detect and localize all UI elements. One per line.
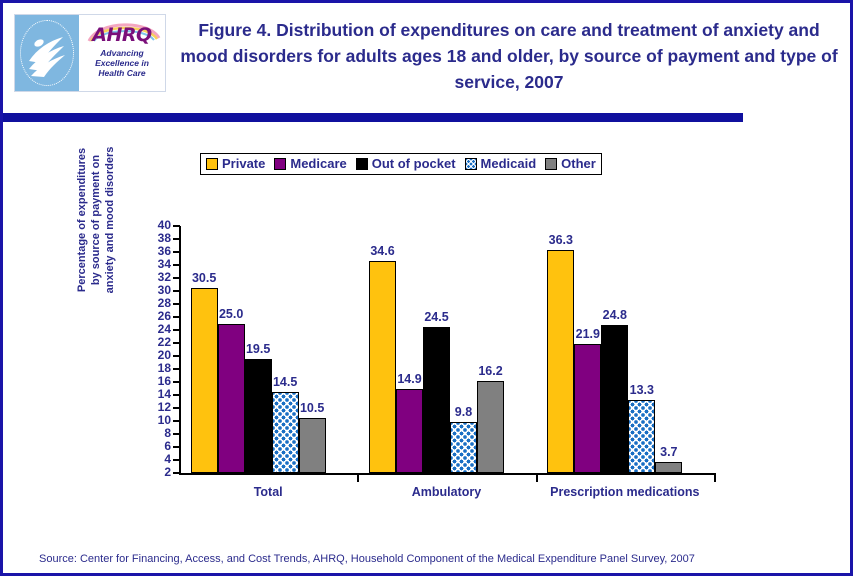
bar bbox=[628, 400, 655, 473]
x-axis-line bbox=[179, 473, 714, 475]
legend-item-other: Other bbox=[545, 156, 596, 171]
y-axis-tick bbox=[173, 264, 180, 266]
x-axis-group-separator bbox=[536, 473, 538, 482]
source-note: Source: Center for Financing, Access, an… bbox=[39, 553, 695, 565]
bar-value-label: 24.5 bbox=[415, 311, 459, 324]
y-axis-tick bbox=[173, 446, 180, 448]
legend-label: Out of pocket bbox=[372, 156, 456, 171]
bar-value-label: 30.5 bbox=[182, 272, 226, 285]
ahrq-tagline-line3: Health Care bbox=[79, 68, 165, 78]
x-axis-group-separator bbox=[357, 473, 359, 482]
bar bbox=[369, 261, 396, 473]
bar-value-label: 3.7 bbox=[647, 446, 691, 459]
ahrq-word-text: AHRQ bbox=[79, 26, 165, 45]
y-axis-tick bbox=[173, 407, 180, 409]
hhs-seal-icon bbox=[15, 15, 79, 91]
y-axis-tick-labels: 403836343230282624222018161412108642 bbox=[145, 189, 171, 519]
y-axis-tick bbox=[173, 433, 180, 435]
legend-swatch-icon bbox=[545, 158, 557, 170]
bar-value-label: 16.2 bbox=[469, 365, 513, 378]
y-axis-tick-label: 26 bbox=[147, 310, 171, 322]
bar bbox=[574, 344, 601, 473]
y-axis-tick-label: 14 bbox=[147, 388, 171, 400]
y-axis-tick bbox=[173, 368, 180, 370]
bar-value-label: 19.5 bbox=[236, 343, 280, 356]
y-axis-tick bbox=[173, 355, 180, 357]
y-axis-tick-label: 32 bbox=[147, 271, 171, 283]
y-axis-tick bbox=[173, 381, 180, 383]
y-axis-tick bbox=[173, 316, 180, 318]
y-axis-tick bbox=[173, 472, 180, 474]
y-axis-tick bbox=[173, 225, 180, 227]
y-axis-tick bbox=[173, 277, 180, 279]
ahrq-tagline-line1: Advancing bbox=[79, 48, 165, 58]
chart-area: 403836343230282624222018161412108642 30.… bbox=[3, 189, 850, 519]
legend-swatch-icon bbox=[356, 158, 368, 170]
ahrq-wordmark: AHRQ Advancing Excellence in Health Care bbox=[79, 15, 165, 91]
bar bbox=[450, 422, 477, 473]
bar bbox=[601, 325, 628, 473]
ahrq-tagline-line2: Excellence in bbox=[79, 58, 165, 68]
x-axis-group-label: Prescription medications bbox=[536, 485, 714, 499]
y-axis-tick-label: 20 bbox=[147, 349, 171, 361]
y-axis-tick-label: 2 bbox=[147, 466, 171, 478]
y-axis-tick-label: 12 bbox=[147, 401, 171, 413]
bar-value-label: 24.8 bbox=[593, 309, 637, 322]
ahrq-tagline: Advancing Excellence in Health Care bbox=[79, 48, 165, 78]
y-axis-tick bbox=[173, 238, 180, 240]
y-axis-tick-label: 6 bbox=[147, 440, 171, 452]
bar-value-label: 34.6 bbox=[361, 245, 405, 258]
legend-swatch-icon bbox=[274, 158, 286, 170]
ahrq-logo: AHRQ Advancing Excellence in Health Care bbox=[14, 14, 166, 92]
y-axis-tick-label: 36 bbox=[147, 245, 171, 257]
legend-swatch-icon bbox=[206, 158, 218, 170]
bar bbox=[655, 462, 682, 473]
legend-item-private: Private bbox=[206, 156, 265, 171]
figure-page: AHRQ Advancing Excellence in Health Care… bbox=[0, 0, 853, 576]
y-axis-tick-label: 40 bbox=[147, 219, 171, 231]
chart-legend: PrivateMedicareOut of pocketMedicaidOthe… bbox=[200, 153, 602, 175]
y-axis-tick-label: 24 bbox=[147, 323, 171, 335]
bar-value-label: 25.0 bbox=[209, 308, 253, 321]
bar bbox=[423, 327, 450, 473]
legend-item-out-of-pocket: Out of pocket bbox=[356, 156, 456, 171]
y-axis-tick bbox=[173, 459, 180, 461]
y-axis-tick-label: 30 bbox=[147, 284, 171, 296]
legend-label: Medicaid bbox=[481, 156, 537, 171]
y-axis-tick-label: 16 bbox=[147, 375, 171, 387]
bar-value-label: 36.3 bbox=[539, 234, 583, 247]
y-axis-tick-label: 4 bbox=[147, 453, 171, 465]
y-axis-tick bbox=[173, 329, 180, 331]
x-axis-group-separator bbox=[714, 473, 716, 482]
bar-value-label: 14.5 bbox=[263, 376, 307, 389]
x-axis-group-label: Total bbox=[179, 485, 357, 499]
legend-label: Medicare bbox=[290, 156, 346, 171]
legend-swatch-icon bbox=[465, 158, 477, 170]
y-axis-tick bbox=[173, 342, 180, 344]
x-axis-group-label: Ambulatory bbox=[357, 485, 535, 499]
figure-header: AHRQ Advancing Excellence in Health Care… bbox=[3, 3, 850, 107]
header-divider bbox=[3, 113, 743, 122]
y-axis-tick-label: 18 bbox=[147, 362, 171, 374]
bar bbox=[396, 389, 423, 473]
y-axis-tick-label: 8 bbox=[147, 427, 171, 439]
plot-bars: 30.525.019.514.510.534.614.924.59.816.23… bbox=[179, 226, 714, 473]
y-axis-tick bbox=[173, 303, 180, 305]
legend-item-medicare: Medicare bbox=[274, 156, 346, 171]
bar bbox=[299, 418, 326, 473]
y-axis-tick bbox=[173, 394, 180, 396]
y-axis-tick-label: 34 bbox=[147, 258, 171, 270]
figure-title: Figure 4. Distribution of expenditures o… bbox=[179, 17, 839, 95]
y-axis-tick-label: 10 bbox=[147, 414, 171, 426]
bar-value-label: 10.5 bbox=[290, 402, 334, 415]
y-axis-tick bbox=[173, 420, 180, 422]
bar bbox=[547, 250, 574, 473]
y-axis-tick bbox=[173, 290, 180, 292]
y-axis-tick-label: 38 bbox=[147, 232, 171, 244]
legend-label: Private bbox=[222, 156, 265, 171]
bar bbox=[477, 381, 504, 473]
y-axis-tick-label: 22 bbox=[147, 336, 171, 348]
legend-label: Other bbox=[561, 156, 596, 171]
legend-item-medicaid: Medicaid bbox=[465, 156, 537, 171]
y-axis-tick-label: 28 bbox=[147, 297, 171, 309]
y-axis-tick bbox=[173, 251, 180, 253]
bar-value-label: 13.3 bbox=[620, 384, 664, 397]
